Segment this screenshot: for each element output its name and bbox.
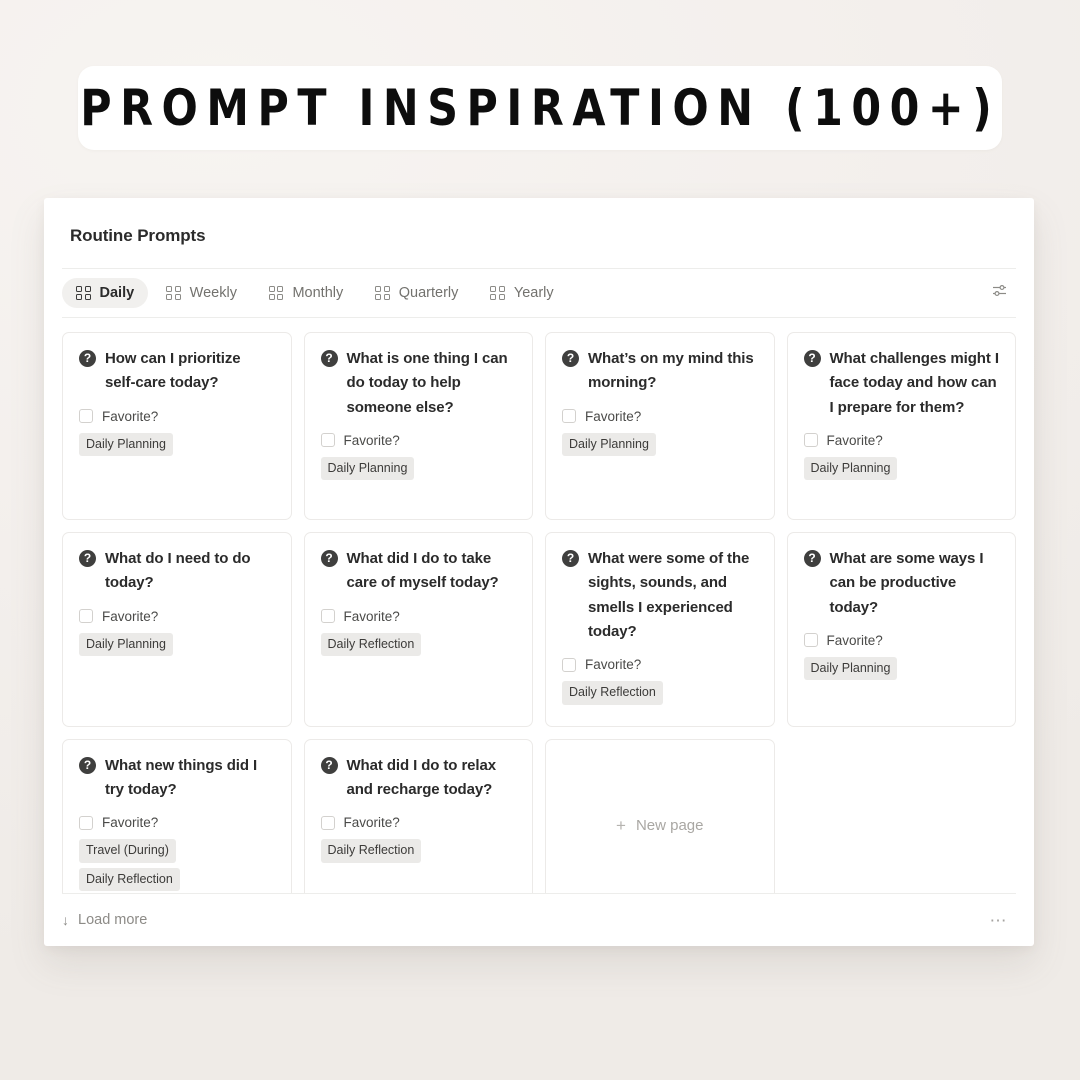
tab-label: Daily [100,285,135,301]
tab-yearly[interactable]: Yearly [476,278,567,308]
card-title: How can I prioritize self-care today? [105,347,275,396]
question-mark-circle-icon: ? [804,350,821,367]
card-row: ? What do I need to do today? Favorite? … [62,532,1016,727]
favorite-label: Favorite? [344,815,400,830]
tag-chip: Daily Planning [562,433,656,457]
card-title: What did I do to take care of myself tod… [347,547,517,596]
tag-chip: Daily Planning [79,433,173,457]
tag-chip: Daily Reflection [321,839,422,863]
prompt-card[interactable]: ? What is one thing I can do today to he… [304,332,534,520]
card-tags: Daily Planning [79,433,275,462]
card-header: ? What’s on my mind this morning? [562,347,758,396]
tab-label: Weekly [190,285,237,301]
card-tags: Daily Planning [79,633,275,662]
arrow-down-icon: ↓ [62,912,69,928]
card-title: What do I need to do today? [105,547,275,596]
new-page-label: New page [636,817,704,834]
prompt-card[interactable]: ? What were some of the sights, sounds, … [545,532,775,727]
card-header: ? What challenges might I face today and… [804,347,1000,420]
favorite-row: Favorite? [79,409,275,424]
question-mark-circle-icon: ? [79,350,96,367]
card-tags: Daily Planning [321,457,517,486]
prompt-card[interactable]: ? How can I prioritize self-care today? … [62,332,292,520]
tab-label: Quarterly [399,285,459,301]
card-tags: Travel (During) Daily Reflection [79,839,275,893]
tag-chip: Daily Planning [79,633,173,657]
card-tags: Daily Planning [804,457,1000,486]
tag-chip: Travel (During) [79,839,176,863]
favorite-label: Favorite? [344,609,400,624]
card-header: ? What were some of the sights, sounds, … [562,547,758,644]
favorite-checkbox[interactable] [804,633,818,647]
card-title: What challenges might I face today and h… [830,347,1000,420]
question-mark-circle-icon: ? [562,350,579,367]
tab-label: Monthly [292,285,343,301]
card-header: ? What do I need to do today? [79,547,275,596]
card-row: ? How can I prioritize self-care today? … [62,332,1016,520]
card-tags: Daily Reflection [562,681,758,710]
card-title: What are some ways I can be productive t… [830,547,1000,620]
card-title: What were some of the sights, sounds, an… [588,547,758,644]
tab-daily[interactable]: Daily [62,278,148,308]
favorite-label: Favorite? [102,815,158,830]
tag-chip: Daily Reflection [79,868,180,892]
card-row: ? What new things did I try today? Favor… [62,739,1016,893]
card-board: ? How can I prioritize self-care today? … [44,318,1034,893]
favorite-row: Favorite? [79,815,275,830]
gallery-grid-icon [375,286,390,301]
favorite-row: Favorite? [562,409,758,424]
favorite-label: Favorite? [827,633,883,648]
tag-chip: Daily Reflection [321,633,422,657]
question-mark-circle-icon: ? [562,550,579,567]
question-mark-circle-icon: ? [321,757,338,774]
plus-icon: + [616,817,626,834]
favorite-label: Favorite? [827,433,883,448]
tab-weekly[interactable]: Weekly [152,278,251,308]
tag-chip: Daily Reflection [562,681,663,705]
favorite-row: Favorite? [79,609,275,624]
ellipsis-icon[interactable]: ⋯ [990,912,1009,929]
favorite-checkbox[interactable] [562,409,576,423]
card-title: What’s on my mind this morning? [588,347,758,396]
page-title: PROMPT INSPIRATION (100+) [80,79,1000,137]
view-tabbar: Daily Weekly Monthly Quarterly Yearly [44,269,1034,317]
favorite-row: Favorite? [562,657,758,672]
tab-label: Yearly [514,285,554,301]
favorite-row: Favorite? [804,433,1000,448]
card-tags: Daily Reflection [321,633,517,662]
empty-grid-slot [787,739,1017,893]
question-mark-circle-icon: ? [79,757,96,774]
favorite-label: Favorite? [102,409,158,424]
prompt-card[interactable]: ? What did I do to take care of myself t… [304,532,534,727]
tab-quarterly[interactable]: Quarterly [361,278,472,308]
favorite-checkbox[interactable] [321,433,335,447]
prompt-card[interactable]: ? What new things did I try today? Favor… [62,739,292,893]
card-tags: Daily Planning [562,433,758,462]
prompt-card[interactable]: ? What are some ways I can be productive… [787,532,1017,727]
gallery-grid-icon [269,286,284,301]
sliders-icon[interactable] [991,282,1008,304]
prompt-card[interactable]: ? What do I need to do today? Favorite? … [62,532,292,727]
question-mark-circle-icon: ? [79,550,96,567]
new-page-card[interactable]: + New page [545,739,775,893]
card-header: ? How can I prioritize self-care today? [79,347,275,396]
favorite-checkbox[interactable] [321,609,335,623]
load-more-button[interactable]: ↓ Load more [62,912,990,928]
window-footer: ↓ Load more ⋯ [44,894,1034,946]
database-title: Routine Prompts [70,226,1008,246]
card-header: ? What is one thing I can do today to he… [321,347,517,420]
question-mark-circle-icon: ? [321,550,338,567]
favorite-label: Favorite? [102,609,158,624]
favorite-checkbox[interactable] [79,409,93,423]
card-title: What new things did I try today? [105,754,275,803]
card-header: ? What are some ways I can be productive… [804,547,1000,620]
favorite-row: Favorite? [321,815,517,830]
card-title: What did I do to relax and recharge toda… [347,754,517,803]
card-header: ? What did I do to relax and recharge to… [321,754,517,803]
favorite-checkbox[interactable] [804,433,818,447]
tab-monthly[interactable]: Monthly [255,278,357,308]
card-header: ? What did I do to take care of myself t… [321,547,517,596]
tag-chip: Daily Planning [321,457,415,481]
card-tags: Daily Planning [804,657,1000,686]
prompt-card[interactable]: ? What did I do to relax and recharge to… [304,739,534,893]
question-mark-circle-icon: ? [321,350,338,367]
gallery-grid-icon [166,286,181,301]
gallery-grid-icon [490,286,505,301]
view-tabs: Daily Weekly Monthly Quarterly Yearly [62,278,991,308]
favorite-checkbox[interactable] [321,816,335,830]
favorite-checkbox[interactable] [79,609,93,623]
prompt-card[interactable]: ? What challenges might I face today and… [787,332,1017,520]
gallery-grid-icon [76,286,91,301]
card-title: What is one thing I can do today to help… [347,347,517,420]
page-banner: PROMPT INSPIRATION (100+) [78,66,1002,150]
favorite-checkbox[interactable] [79,816,93,830]
card-header: ? What new things did I try today? [79,754,275,803]
prompt-card[interactable]: ? What’s on my mind this morning? Favori… [545,332,775,520]
favorite-row: Favorite? [804,633,1000,648]
favorite-row: Favorite? [321,609,517,624]
card-tags: Daily Reflection [321,839,517,868]
favorite-row: Favorite? [321,433,517,448]
window-header: Routine Prompts [44,198,1034,246]
favorite-label: Favorite? [344,433,400,448]
database-window: Routine Prompts Daily Weekly Monthly Qua… [44,198,1034,946]
tag-chip: Daily Planning [804,457,898,481]
load-more-label: Load more [78,912,147,928]
favorite-label: Favorite? [585,409,641,424]
favorite-checkbox[interactable] [562,658,576,672]
tag-chip: Daily Planning [804,657,898,681]
question-mark-circle-icon: ? [804,550,821,567]
favorite-label: Favorite? [585,657,641,672]
